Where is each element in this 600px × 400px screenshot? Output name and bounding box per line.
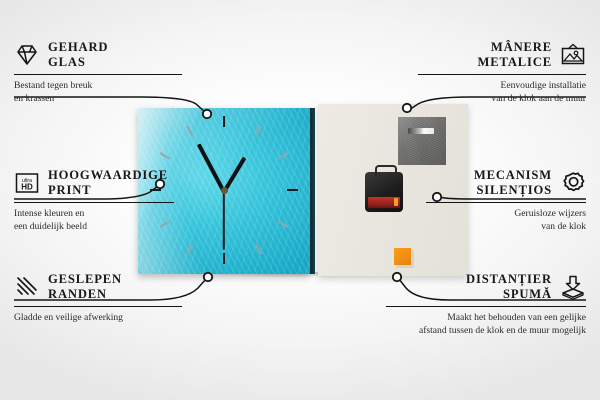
callout-title: MÂNERE METALICE	[478, 40, 552, 71]
callout-head: MÂNERE METALICE	[418, 40, 586, 71]
clock-tick	[278, 221, 289, 228]
metal-hanger-plate	[398, 117, 446, 165]
callout-head: DISTANȚIER SPUMĂ	[386, 272, 586, 303]
callout-desc: Geruisloze wijzers van de klok	[426, 207, 586, 233]
movement-hanger-loop	[375, 165, 397, 176]
callout-title: GEHARD GLAS	[48, 40, 108, 71]
gear-icon	[560, 170, 586, 196]
callout-desc: Bestand tegen breuk en krassen	[14, 79, 182, 105]
framed-picture-icon	[560, 42, 586, 68]
clock-tick	[159, 152, 170, 159]
callout-manere-metalice[interactable]: MÂNERE METALICE Eenvoudige installatie v…	[418, 40, 586, 105]
callout-desc: Maakt het behouden van een gelijke afsta…	[386, 311, 586, 337]
callout-mecanism-silentios[interactable]: MECANISM SILENȚIOS Geruisloze wijzers va…	[426, 168, 586, 233]
orange-foam-spacer	[394, 248, 411, 265]
callout-desc: Gladde en veilige afwerking	[14, 311, 182, 324]
quartz-movement	[365, 172, 403, 212]
callout-desc: Intense kleuren en een duidelijk beeld	[14, 207, 174, 233]
clock-tick	[186, 244, 193, 255]
callout-rule	[386, 306, 586, 308]
callout-title: DISTANȚIER SPUMĂ	[466, 272, 552, 303]
clock-tick	[287, 189, 298, 191]
callout-distantier-spuma[interactable]: DISTANȚIER SPUMĂ Maakt het behouden van …	[386, 272, 586, 337]
clock-tick	[278, 152, 289, 159]
hanger-slot	[408, 128, 434, 134]
clock-minute-hand	[197, 143, 226, 193]
clock-tick	[255, 125, 262, 136]
callout-title: HOOGWAARDIGE PRINT	[48, 168, 168, 199]
callout-rule	[14, 74, 182, 76]
callout-head: MECANISM SILENȚIOS	[426, 168, 586, 199]
callout-rule	[426, 202, 586, 204]
callout-rule	[14, 306, 182, 308]
ultra-hd-icon: ultra HD	[14, 170, 40, 196]
callout-gehard-glas[interactable]: GEHARD GLAS Bestand tegen breuk en krass…	[14, 40, 182, 105]
callout-geslepen-randen[interactable]: GESLEPEN RANDEN Gladde en veilige afwerk…	[14, 272, 182, 324]
callout-head: GEHARD GLAS	[14, 40, 182, 71]
callout-rule	[14, 202, 174, 204]
callout-title: MECANISM SILENȚIOS	[474, 168, 552, 199]
clock-tick	[223, 116, 225, 127]
callout-head: GESLEPEN RANDEN	[14, 272, 182, 303]
clock-tick	[186, 125, 193, 136]
callout-hoogwaardige-print[interactable]: ultra HD HOOGWAARDIGE PRINT Intense kleu…	[14, 168, 174, 233]
bevelled-edges-icon	[14, 274, 40, 300]
callout-rule	[418, 74, 586, 76]
clock-center-cap	[221, 187, 228, 194]
infographic-canvas: GEHARD GLAS Bestand tegen breuk en krass…	[0, 0, 600, 400]
callout-head: ultra HD HOOGWAARDIGE PRINT	[14, 168, 174, 199]
clock-tick	[255, 244, 262, 255]
diamond-icon	[14, 42, 40, 68]
callout-title: GESLEPEN RANDEN	[48, 272, 122, 303]
svg-text:HD: HD	[21, 183, 33, 192]
press-down-pad-icon	[560, 274, 586, 300]
clock-second-hand	[223, 192, 225, 250]
clock-tick	[223, 253, 225, 264]
aa-battery	[368, 197, 400, 208]
callout-desc: Eenvoudige installatie van de klok aan d…	[418, 79, 586, 105]
